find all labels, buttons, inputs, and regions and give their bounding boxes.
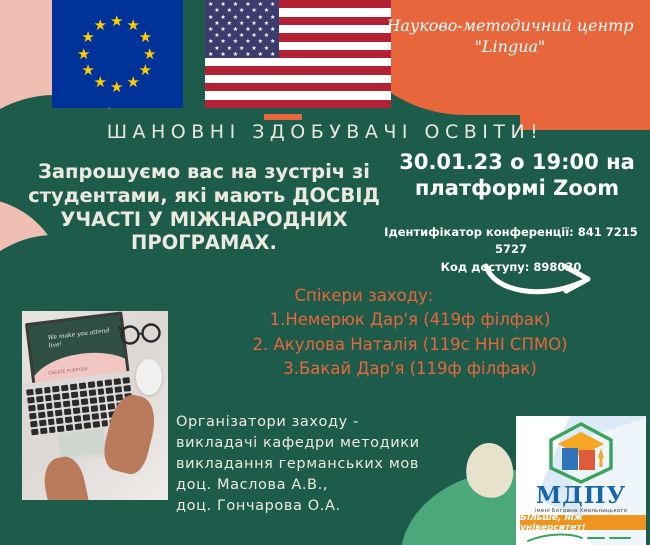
brand-line-2: "Lingua" xyxy=(384,37,636,58)
eu-flag-star: ★ xyxy=(110,80,123,95)
laptop-hands-photo: We make you attend live! CREATE PURPOSE … xyxy=(22,311,168,500)
photo-keyboard-key xyxy=(54,402,62,409)
us-flag-star: ★ xyxy=(251,46,256,52)
eu-flag-star: ★ xyxy=(139,30,152,45)
photo-trackpad xyxy=(58,429,107,458)
us-flag-star: ★ xyxy=(239,46,244,52)
photo-keyboard-key xyxy=(73,407,81,414)
us-flag-star: ★ xyxy=(251,8,256,14)
eu-flag-star: ★ xyxy=(94,18,107,33)
us-flag-star: ★ xyxy=(251,33,256,39)
photo-keyboard-key xyxy=(65,416,73,423)
us-flag-star: ★ xyxy=(208,2,213,8)
invite-line-1: Запрошуємо вас на зустріч зі xyxy=(38,160,370,183)
organizers-line-5: доц. Гончарова О.А. xyxy=(176,496,506,517)
us-flag-star: ★ xyxy=(245,52,250,58)
photo-keyboard-key xyxy=(64,408,72,415)
photo-keyboard-key xyxy=(89,397,97,404)
photo-glasses-icon xyxy=(118,321,164,345)
us-flag-star: ★ xyxy=(258,39,263,45)
speakers-title: Спікери заходу: xyxy=(175,284,645,308)
photo-keyboard-key xyxy=(39,420,47,427)
us-flag-star: ★ xyxy=(245,15,250,21)
us-flag-star: ★ xyxy=(214,33,219,39)
brand-line-1: Науково-методичний центр xyxy=(386,16,633,35)
photo-keyboard-key xyxy=(79,382,87,389)
us-flag-star: ★ xyxy=(220,52,225,58)
photo-keyboard-key xyxy=(31,429,39,436)
graduation-cube-icon xyxy=(548,422,614,484)
eu-flag-star: ★ xyxy=(127,75,140,90)
logo-swoosh-icon xyxy=(526,532,636,544)
event-datetime: 30.01.23 о 19:00 на платформі Zoom xyxy=(392,149,642,202)
photo-keyboard-key xyxy=(97,388,105,395)
photo-keyboard-key xyxy=(92,421,100,428)
photo-mouse xyxy=(136,359,162,395)
organizers-line-4: доц. Маслова А.В., xyxy=(176,475,506,496)
eu-flag-star: ★ xyxy=(139,63,152,78)
us-flag-star: ★ xyxy=(245,39,250,45)
invite-paragraph: Запрошуємо вас на зустріч зі студентами,… xyxy=(18,160,390,255)
speakers-block: Спікери заходу: 1.Немерюк Дар'я (419ф фі… xyxy=(175,284,645,382)
us-flag-star: ★ xyxy=(264,33,269,39)
eu-flag-star: ★ xyxy=(94,75,107,90)
us-flag-star: ★ xyxy=(245,27,250,33)
us-flag-star: ★ xyxy=(264,46,269,52)
us-flag-star: ★ xyxy=(214,21,219,27)
photo-keyboard-key xyxy=(28,405,36,412)
us-flag-star: ★ xyxy=(270,27,275,33)
us-flag-star: ★ xyxy=(214,46,219,52)
photo-keyboard-key xyxy=(87,381,95,388)
invite-line-4: ПРОГРАМАХ. xyxy=(131,231,277,254)
us-flag-star: ★ xyxy=(233,2,238,8)
organizers-line-3: викладання германських мов xyxy=(176,454,506,475)
mdpu-logo: МДПУ імені Богдана Хмельницького Більше,… xyxy=(516,416,646,545)
photo-keyboard-key xyxy=(107,395,115,402)
eu-flag-star: ★ xyxy=(77,47,90,62)
us-flag-star: ★ xyxy=(245,2,250,8)
meeting-id-row: Ідентифікатор конференції: 841 7215 5727 xyxy=(372,224,650,259)
photo-keyboard-key xyxy=(88,389,96,396)
logo-acronym: МДПУ xyxy=(516,482,646,509)
invite-line-3: УЧАСТІ У МІЖНАРОДНИХ xyxy=(60,208,347,231)
photo-keyboard-key xyxy=(71,391,79,398)
speaker-item: 1.Немерюк Дар'я (419ф філфак) xyxy=(175,308,645,332)
photo-keyboard-key xyxy=(106,387,114,394)
us-flag-star: ★ xyxy=(208,27,213,33)
us-flag-star: ★ xyxy=(227,33,232,39)
photo-keyboard-key xyxy=(84,422,92,429)
brand-title: Науково-методичний центр "Lingua" xyxy=(384,16,636,58)
us-flag-star: ★ xyxy=(220,27,225,33)
us-flag-star: ★ xyxy=(270,39,275,45)
photo-keyboard-key xyxy=(115,386,123,393)
us-flag-stripe xyxy=(205,83,391,91)
us-flag-star: ★ xyxy=(270,2,275,8)
photo-keyboard-key xyxy=(74,415,82,422)
speaker-item: 2. Акулова Наталія (119с ННІ СПМО) xyxy=(175,333,645,357)
photo-keyboard-key xyxy=(35,388,43,395)
photo-keyboard-key xyxy=(48,418,56,425)
photo-keyboard-key xyxy=(72,399,80,406)
photo-keyboard-key xyxy=(55,409,63,416)
photo-keyboard-key xyxy=(70,384,78,391)
us-flag-star: ★ xyxy=(270,52,275,58)
organizers-line-1: Організатори заходу - xyxy=(176,412,506,433)
european-union-flag: ★★★★★★★★★★★★ xyxy=(52,0,183,108)
event-datetime-line-1: 30.01.23 о 19:00 на xyxy=(392,149,642,175)
photo-keyboard-key xyxy=(66,424,74,431)
photo-keyboard-key xyxy=(82,406,90,413)
poster-canvas: ★★★★★★★★★★★★ ★★★★★★★★★★★★★★★★★★★★★★★★★★★… xyxy=(0,0,650,545)
eu-flag-star: ★ xyxy=(143,47,156,62)
photo-keyboard-key xyxy=(75,423,83,430)
us-flag-star: ★ xyxy=(220,15,225,21)
us-flag-star: ★ xyxy=(233,52,238,58)
us-flag-star: ★ xyxy=(264,8,269,14)
us-flag-star: ★ xyxy=(258,2,263,8)
photo-screen-script-text: We make you attend live! xyxy=(47,326,122,350)
photo-keyboard-key xyxy=(53,394,61,401)
eu-flag-star: ★ xyxy=(110,14,123,29)
photo-keyboard-key xyxy=(47,411,55,418)
us-flag-star: ★ xyxy=(220,39,225,45)
us-flag-star: ★ xyxy=(208,39,213,45)
photo-keyboard-key xyxy=(61,385,69,392)
photo-keyboard-key xyxy=(37,404,45,411)
organizers-line-2: викладачі кафедри методики xyxy=(176,433,506,454)
photo-keyboard-key xyxy=(26,389,34,396)
photo-keyboard-key xyxy=(44,387,52,394)
photo-keyboard-key xyxy=(46,403,54,410)
photo-keyboard-key xyxy=(98,396,106,403)
photo-keyboard-key xyxy=(36,396,44,403)
us-flag-star: ★ xyxy=(214,8,219,14)
us-flag-star: ★ xyxy=(239,8,244,14)
us-flag-star: ★ xyxy=(233,39,238,45)
photo-keyboard-key xyxy=(123,377,131,384)
us-flag-canton: ★★★★★★★★★★★★★★★★★★★★★★★★★★★★★★★★★★★★★★★★… xyxy=(205,0,279,58)
photo-keyboard-key xyxy=(29,413,37,420)
organizers-block: Організатори заходу - викладачі кафедри … xyxy=(176,412,506,517)
photo-keyboard-key xyxy=(99,404,107,411)
meeting-id-label: Ідентифікатор конференції: xyxy=(384,225,574,239)
photo-keyboard-key xyxy=(38,412,46,419)
us-flag-star: ★ xyxy=(227,46,232,52)
photo-keyboard-key xyxy=(96,380,104,387)
photo-keyboard-key xyxy=(80,390,88,397)
us-flag-star: ★ xyxy=(270,15,275,21)
photo-keyboard-key xyxy=(114,378,122,385)
us-flag-star: ★ xyxy=(220,2,225,8)
us-flag-star: ★ xyxy=(239,33,244,39)
photo-keyboard-key xyxy=(90,405,98,412)
photo-keyboard-key xyxy=(105,379,113,386)
speaker-item: 3.Бакай Дар'я (119ф філфак) xyxy=(175,357,645,381)
photo-keyboard-key xyxy=(62,393,70,400)
headline-text: ШАНОВНІ ЗДОБУВАЧІ ОСВІТИ! xyxy=(0,121,650,143)
us-flag-star: ★ xyxy=(233,27,238,33)
photo-keyboard-key xyxy=(49,426,57,433)
photo-keyboard-key xyxy=(100,412,108,419)
logo-slogan-text: Більше, ніж університет! xyxy=(520,513,646,533)
photo-keyboard-key xyxy=(40,428,48,435)
us-flag-star: ★ xyxy=(227,8,232,14)
photo-keyboard-key xyxy=(101,420,109,427)
event-datetime-line-2: платформі Zoom xyxy=(392,175,642,201)
photo-keyboard-key xyxy=(91,413,99,420)
us-flag-star: ★ xyxy=(227,21,232,27)
us-flag-star: ★ xyxy=(258,52,263,58)
logo-slogan-banner: Більше, ніж університет! xyxy=(520,515,646,530)
eu-flag-star: ★ xyxy=(81,63,94,78)
us-flag-stripe xyxy=(205,66,391,74)
photo-keyboard-key xyxy=(52,386,60,393)
us-flag-star: ★ xyxy=(258,15,263,21)
us-flag-star: ★ xyxy=(233,15,238,21)
photo-keyboard-key xyxy=(123,385,131,392)
photo-keyboard-key xyxy=(30,421,38,428)
us-flag-star: ★ xyxy=(264,21,269,27)
photo-keyboard-key xyxy=(81,398,89,405)
us-flag-star: ★ xyxy=(239,21,244,27)
photo-keyboard-key xyxy=(83,414,91,421)
headline-dash-accent xyxy=(264,114,302,120)
photo-keyboard-key xyxy=(57,425,65,432)
invite-line-2: студентами, які мають ДОСВІД xyxy=(28,184,380,207)
photo-keyboard-key xyxy=(27,397,35,404)
united-states-flag: ★★★★★★★★★★★★★★★★★★★★★★★★★★★★★★★★★★★★★★★★… xyxy=(205,0,391,108)
us-flag-star: ★ xyxy=(258,27,263,33)
us-flag-star: ★ xyxy=(251,21,256,27)
us-flag-stripe xyxy=(205,100,391,108)
photo-keyboard-key xyxy=(45,395,53,402)
us-flag-star: ★ xyxy=(208,52,213,58)
photo-keyboard-key xyxy=(56,417,64,424)
us-flag-star: ★ xyxy=(208,15,213,21)
photo-keyboard-key xyxy=(63,400,71,407)
